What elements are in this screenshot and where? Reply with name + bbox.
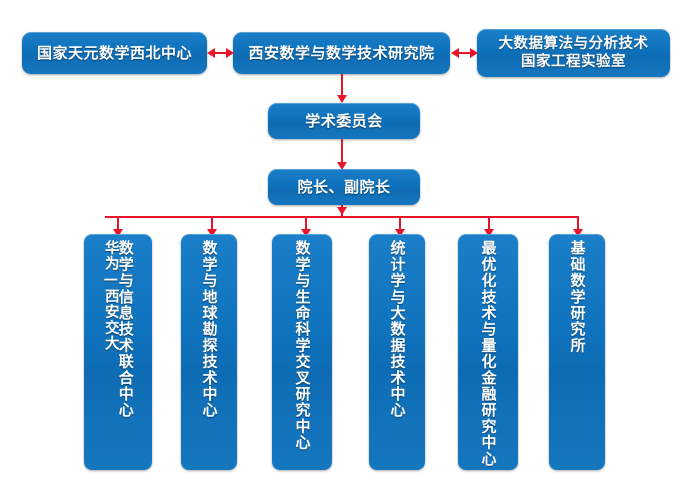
connector-committee-to-deans — [341, 139, 343, 164]
node-label: 基础数学研究所 — [570, 240, 585, 353]
node-label: 最优化技术与量化金融研究中心 — [481, 240, 496, 467]
vertical-text-group: 统计学与大数据技术中心 — [369, 240, 425, 470]
arrowhead-left-tianyuan — [207, 48, 215, 58]
node-sublabel: 华为—西安交大 — [103, 240, 118, 351]
node-bigdata-national-lab[interactable]: 大数据算法与分析技术 国家工程实验室 — [477, 29, 670, 77]
connector-horizontal-bus — [105, 216, 578, 218]
node-academic-committee[interactable]: 学术委员会 — [268, 103, 420, 139]
node-label: 国家天元数学西北中心 — [37, 44, 192, 62]
node-center-math-life-science[interactable]: 数学与生命科学交叉研究中心 — [272, 234, 332, 470]
node-label: 数学与地球勘探技术中心 — [202, 240, 217, 418]
vertical-text-group: 最优化技术与量化金融研究中心 — [458, 240, 518, 470]
arrowhead-right-bigdata — [470, 48, 478, 58]
node-label: 数学与信息技术联合中心 — [118, 240, 133, 418]
node-label: 数学与生命科学交叉研究中心 — [295, 240, 310, 451]
vertical-text-group: 数学与信息技术联合中心 华为—西安交大 — [84, 240, 152, 470]
vertical-text-group: 基础数学研究所 — [549, 240, 605, 470]
node-label: 院长、副院长 — [297, 178, 390, 196]
vertical-text-group: 数学与地球勘探技术中心 — [181, 240, 237, 470]
node-label: 西安数学与数学技术研究院 — [248, 44, 434, 62]
node-center-optimization-quantitative-finance[interactable]: 最优化技术与量化金融研究中心 — [458, 234, 518, 470]
node-label-line-2: 国家工程实验室 — [521, 53, 626, 71]
connector-institute-to-committee — [341, 74, 343, 96]
node-center-math-geophysical-exploration[interactable]: 数学与地球勘探技术中心 — [181, 234, 237, 470]
node-deans[interactable]: 院长、副院长 — [268, 169, 420, 205]
arrowhead-down-committee — [337, 95, 347, 103]
node-center-math-information-technology[interactable]: 数学与信息技术联合中心 华为—西安交大 — [84, 234, 152, 470]
arrowhead-left-institute — [451, 48, 459, 58]
node-label: 统计学与大数据技术中心 — [390, 240, 405, 418]
arrowhead-right-institute — [226, 48, 234, 58]
arrowhead-down-bus — [337, 207, 347, 215]
vertical-text-group: 数学与生命科学交叉研究中心 — [272, 240, 332, 470]
node-xian-institute[interactable]: 西安数学与数学技术研究院 — [233, 32, 450, 74]
node-center-statistics-bigdata[interactable]: 统计学与大数据技术中心 — [369, 234, 425, 470]
node-label-line-1: 大数据算法与分析技术 — [499, 35, 649, 53]
org-chart-canvas: 国家天元数学西北中心 西安数学与数学技术研究院 大数据算法与分析技术 国家工程实… — [0, 0, 692, 487]
node-national-tianyuan-center[interactable]: 国家天元数学西北中心 — [22, 32, 207, 74]
node-label: 学术委员会 — [305, 112, 383, 130]
node-institute-fundamental-mathematics[interactable]: 基础数学研究所 — [549, 234, 605, 470]
